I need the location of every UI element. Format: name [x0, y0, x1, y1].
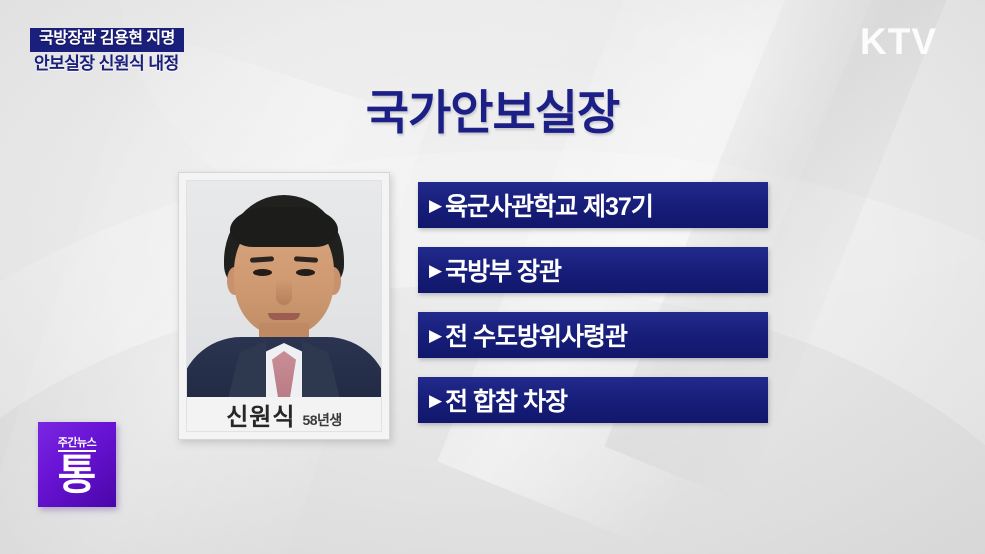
page-title: 국가안보실장 [0, 74, 985, 143]
list-item-label: 전 수도방위사령관 [445, 317, 627, 353]
portrait-name: 신원식 [226, 397, 295, 432]
portrait-eye-left [253, 269, 272, 276]
arrow-right-icon: ▶ [429, 327, 442, 344]
program-logo-subtitle: 주간뉴스 [58, 437, 96, 452]
portrait-caption: 신원식 58년생 [187, 397, 381, 431]
corner-banner-line-2: 안보실장 신원식 내정 [34, 55, 184, 73]
list-item-label: 전 합참 차장 [445, 382, 567, 418]
arrow-right-icon: ▶ [429, 392, 442, 409]
program-logo: 주간뉴스 통 [38, 422, 116, 507]
list-item: ▶ 전 수도방위사령관 [418, 312, 768, 358]
credentials-list: ▶ 육군사관학교 제37기 ▶ 국방부 장관 ▶ 전 수도방위사령관 ▶ 전 합… [418, 182, 768, 423]
list-item-label: 육군사관학교 제37기 [445, 187, 653, 223]
channel-watermark: KTV [860, 21, 937, 63]
portrait-photo [187, 181, 381, 399]
list-item: ▶ 전 합참 차장 [418, 377, 768, 423]
program-logo-main: 통 [58, 454, 97, 496]
broadcast-graphic-stage: 국방장관 김용현 지명 안보실장 신원식 내정 KTV 국가안보실장 [0, 0, 985, 554]
portrait-frame: 신원식 58년생 [186, 180, 382, 432]
corner-banner-line-1: 국방장관 김용현 지명 [30, 28, 184, 52]
corner-banner: 국방장관 김용현 지명 안보실장 신원식 내정 [30, 28, 184, 73]
list-item: ▶ 육군사관학교 제37기 [418, 182, 768, 228]
arrow-right-icon: ▶ [429, 197, 442, 214]
list-item-label: 국방부 장관 [445, 252, 561, 288]
portrait-fringe [230, 207, 338, 247]
arrow-right-icon: ▶ [429, 262, 442, 279]
portrait-nose [276, 279, 292, 305]
portrait-birth-year: 58년생 [302, 410, 341, 430]
portrait-card: 신원식 58년생 [178, 172, 390, 440]
list-item: ▶ 국방부 장관 [418, 247, 768, 293]
portrait-eye-right [296, 269, 315, 276]
portrait-mouth [268, 313, 300, 320]
